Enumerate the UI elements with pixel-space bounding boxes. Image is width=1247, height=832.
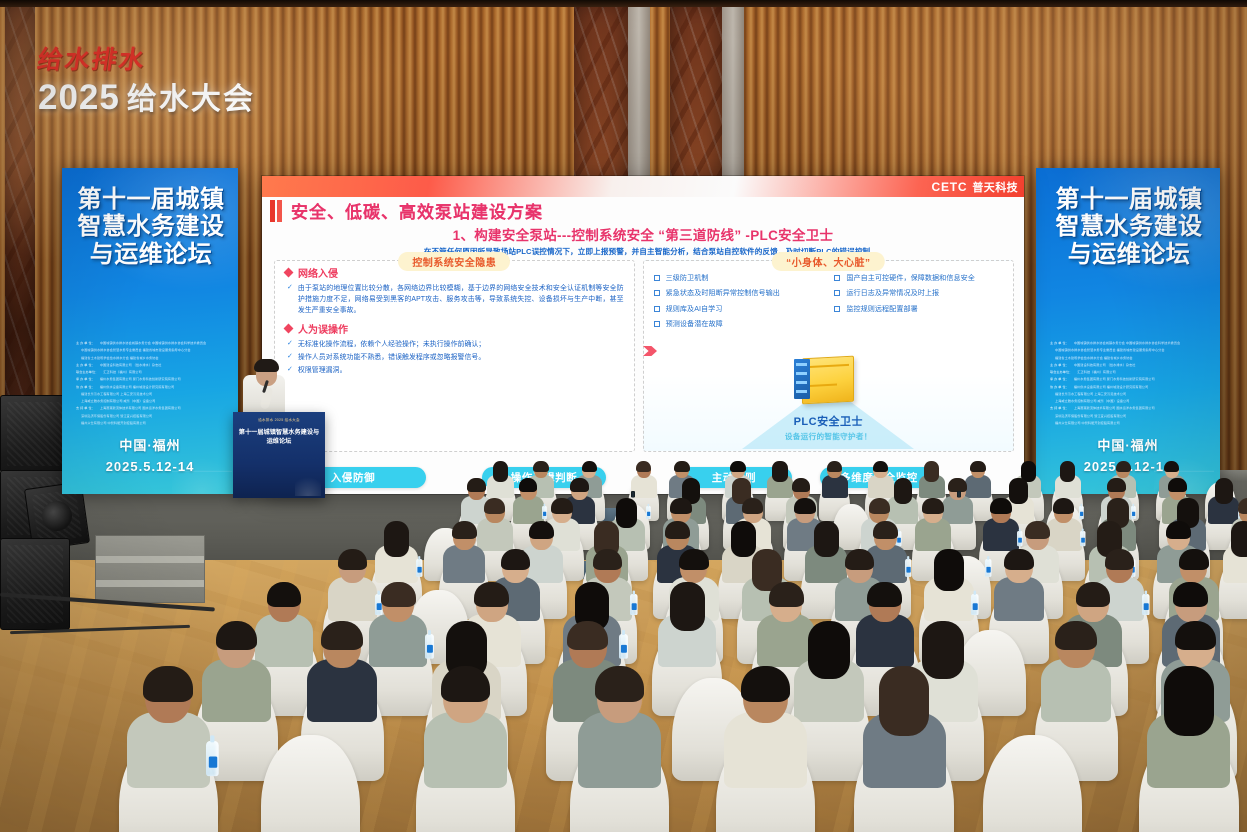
attendee-torso: [965, 475, 991, 499]
organizer-value: 上海威立雅水务控制有限公司 威乐（中国）设备公司: [1055, 398, 1129, 405]
organizer-value: 深圳泓济环保股份有限公司 浙江宜兴控股有限公司: [81, 413, 152, 420]
organizer-value: 中国城镇供水排水协会智慧水务专业委员会 福建省城市建设服务指导中心分会: [1055, 347, 1165, 354]
organizer-row: 福建长乐污水工程有限公司 上海三安污泥技术公司: [1050, 391, 1210, 398]
attendee-hair: [970, 461, 986, 472]
attendee-hair: [381, 582, 416, 607]
organizer-row: 中国城镇供水排水协会智慧水务专业委员会 福建省城市建设服务指导中心分会: [76, 347, 228, 354]
attendee-hair: [873, 461, 889, 472]
attendee-hair: [484, 498, 505, 513]
organizer-row: 联合主办单位：汇正科技（福州）有限公司: [1050, 369, 1210, 376]
water-bottle: [1079, 506, 1084, 519]
podium-logo: 给水排水 2025 给水大会: [233, 418, 325, 423]
attendee-hair: [922, 621, 963, 679]
organizer-row: 协 办 单 位：福州供水设备有限公司 福州城建设计研究院有限公司: [76, 384, 228, 391]
feature-item: 规则库及AI自学习: [654, 304, 825, 315]
organizer-label: 联合主办单位：: [1050, 369, 1072, 376]
attendee-hair: [593, 549, 623, 570]
organizer-row: 深圳泓济环保股份有限公司 浙江宜兴控股有限公司: [76, 413, 228, 420]
organizer-label: 协 办 单 位：: [1050, 384, 1069, 391]
organizer-value: 上海赛莱默流体技术有限公司 国水远洋水务集团有限公司: [100, 405, 181, 412]
attendee-hair: [1053, 498, 1074, 513]
attendee-hair: [529, 521, 554, 539]
attendee-hair: [1055, 621, 1096, 651]
attendee-hair: [769, 582, 804, 607]
organizer-value: 福州水务集团有限公司 厦门水务科技创新研究院有限公司: [100, 376, 181, 383]
water-bottle: [646, 506, 651, 519]
attendee-hair: [1116, 461, 1132, 472]
organizer-row: 福建省土木建筑学会给水排水分会 福建省城乡水务协会: [1050, 355, 1210, 362]
organizer-row: 主 办 单 位：中国城镇供水排水协会城镇水务分会 中国城镇供水排水协会科学技术委…: [76, 340, 228, 347]
attendee-hair: [679, 549, 709, 570]
feature-item-text: 监控规则远程配置部署: [846, 304, 917, 315]
square-bullet-icon: [834, 306, 840, 312]
attendee-hair: [674, 461, 690, 472]
organizer-value: 福州众仕有限公司 中智科能开封控股有限公司: [81, 420, 146, 427]
water-bottle: [1017, 531, 1022, 546]
attendee-hair: [1168, 478, 1187, 491]
attendee-torso: [994, 577, 1044, 622]
attendee-torso: [915, 518, 951, 550]
attendee-hair: [1107, 478, 1126, 491]
attendee-hair: [267, 582, 302, 607]
attendee-hair: [670, 582, 705, 631]
organizer-value: 福州众仕有限公司 中智科能开封控股有限公司: [1055, 420, 1120, 427]
presenter-hair: [254, 359, 279, 372]
attendee-hair: [792, 478, 811, 491]
attendee-hair: [1105, 549, 1135, 570]
organizer-value: 中国建设科技有限公司 （给水排水）杂志社: [100, 362, 162, 369]
attendee-torso: [983, 518, 1019, 550]
attendee-hair: [665, 521, 690, 539]
organizer-row: 上海威立雅水务控制有限公司 威乐（中国）设备公司: [76, 398, 228, 405]
attendee-torso: [757, 614, 815, 667]
banner-left-title: 第十一届城镇智慧水务建设与运维论坛: [70, 186, 232, 268]
organizer-row: 承 办 单 位：福州水务集团有限公司 厦门水务科技创新研究院有限公司: [1050, 376, 1210, 383]
diamond-bullet-icon: [284, 323, 294, 333]
attendee-hair: [730, 461, 746, 472]
attendee-hair: [1215, 478, 1234, 504]
attendee-hair: [384, 521, 409, 556]
organizer-label: 支 持 单 位：: [1050, 405, 1069, 412]
attendee-hair: [551, 498, 572, 513]
organizer-value: 福建长乐污水工程有限公司 上海三安污泥技术公司: [81, 391, 152, 398]
attendee-torso: [307, 659, 376, 722]
attendee-torso: [578, 712, 661, 787]
attendee-hair: [670, 498, 691, 513]
water-bottle: [416, 559, 422, 577]
attendee-hair: [441, 666, 491, 701]
attendee-hair: [922, 498, 943, 513]
organizer-value: 上海赛莱默流体技术有限公司 国水远洋水务集团有限公司: [1074, 405, 1155, 412]
organizer-row: 福建省土木建筑学会给水排水分会 福建省城乡水务协会: [76, 355, 228, 362]
attendee-hair: [1164, 666, 1214, 736]
feature-column-left: 三级防卫机制紧急状态及时阻断异常控制信号输出规则库及AI自学习预测设备潜在故障: [654, 273, 825, 334]
attendee-hair: [934, 549, 964, 591]
feature-item: 运行日志及异常情况及时上报: [834, 288, 1005, 299]
attendee-hair: [493, 461, 509, 483]
attendee-hair: [742, 498, 763, 513]
podium-title: 第十一届城镇智慧水务建设与运维论坛: [237, 428, 321, 447]
watermark-event: 给水大会: [127, 74, 255, 118]
organizer-row: 上海威立雅水务控制有限公司 威乐（中国）设备公司: [1050, 398, 1210, 405]
organizer-label: 承 办 单 位：: [1050, 376, 1069, 383]
attendee-hair: [879, 666, 929, 736]
water-bottle: [985, 559, 991, 577]
water-bottle: [971, 594, 979, 615]
organizer-row: 主 办 单 位：中国建设科技有限公司 （给水排水）杂志社: [76, 362, 228, 369]
feature-item-text: 规则库及AI自学习: [666, 304, 723, 315]
attendee-hair: [467, 478, 486, 491]
square-bullet-icon: [654, 275, 660, 281]
attendee-hair: [533, 461, 549, 472]
attendee-hair: [845, 549, 875, 570]
organizer-row: 支 持 单 位：上海赛莱默流体技术有限公司 国水远洋水务集团有限公司: [1050, 405, 1210, 412]
attendee-hair: [808, 621, 849, 679]
attendee-hair: [894, 478, 913, 504]
organizer-row: 中国城镇供水排水协会智慧水务专业委员会 福建省城市建设服务指导中心分会: [1050, 347, 1210, 354]
plc-device-tagline: 设备运行的智能守护者！: [644, 431, 1013, 442]
attendee-hair: [1238, 498, 1247, 513]
feature-item: 三级防卫机制: [654, 273, 825, 284]
attendee-hair: [794, 498, 815, 513]
check-icon: ✓: [287, 365, 293, 376]
attendee-hair: [814, 521, 839, 556]
attendee-hair: [474, 582, 509, 607]
pane-left-badge: 控制系统安全隐患: [398, 252, 510, 271]
slide-subtitle: 1、构建安全泵站---控制系统安全 “第三道防线” -PLC安全卫士: [262, 224, 1024, 244]
water-bottle: [1142, 594, 1150, 615]
attendee-hair: [731, 521, 756, 556]
attendee-hair: [1166, 521, 1191, 539]
risk-section-title: 网络入侵: [298, 265, 338, 280]
organizer-row: 主 办 单 位：中国城镇供水排水协会城镇水务分会 中国城镇供水排水协会科学技术委…: [1050, 340, 1210, 347]
risk-bullet: ✓由于泵站的地理位置比较分散，各网络边界比较模糊，基于边界的网络安全技术和安全认…: [287, 283, 624, 317]
feature-item: 紧急状态及时阻断异常控制信号输出: [654, 288, 825, 299]
attendee-hair: [616, 498, 637, 528]
ceiling-edge: [0, 0, 1247, 7]
slide-header-bar: CETC 普天科技: [262, 176, 1024, 197]
feature-item-text: 预测设备潜在故障: [666, 319, 723, 330]
organizer-row: 联合主办单位：汇正科技（福州）有限公司: [76, 369, 228, 376]
banner-right-organizers: 主 办 单 位：中国城镇供水排水协会城镇水务分会 中国城镇供水排水协会科学技术委…: [1050, 340, 1210, 427]
organizer-value: 中国城镇供水排水协会智慧水务专业委员会 福建省城市建设服务指导中心分会: [81, 347, 191, 354]
organizer-row: 主 办 单 位：中国建设科技有限公司 （给水排水）杂志社: [1050, 362, 1210, 369]
watermark-year: 2025: [38, 78, 120, 118]
organizer-row: 支 持 单 位：上海赛莱默流体技术有限公司 国水远洋水务集团有限公司: [76, 405, 228, 412]
risk-bullet: ✓操作人员对系统功能不熟悉，错误触发程序或忽略报警信号。: [287, 352, 624, 363]
attendee-torso: [477, 518, 513, 550]
attendee-torso: [202, 659, 271, 722]
risk-bullet-text: 由于泵站的地理位置比较分散，各网络边界比较模糊，基于边界的网络安全技术和安全认证…: [298, 283, 624, 317]
risk-bullet: ✓权限管理漏洞。: [287, 365, 624, 376]
attendee-hair: [216, 621, 257, 651]
attendee-torso: [369, 614, 427, 667]
slide-title-row: 安全、低碳、高效泵站建设方案: [270, 198, 543, 223]
square-bullet-icon: [654, 321, 660, 327]
attendee-hair: [1179, 549, 1209, 570]
organizer-label: 联合主办单位：: [76, 369, 98, 376]
water-bottle: [542, 506, 547, 519]
feature-item: 预测设备潜在故障: [654, 319, 825, 330]
attendee-torso: [127, 712, 210, 787]
organizer-label: 承 办 单 位：: [76, 376, 95, 383]
risk-bullet-text: 权限管理漏洞。: [298, 365, 347, 376]
smartphone-icon: [957, 491, 961, 498]
risk-section-heading: 人为误操作: [285, 321, 634, 336]
cetc-logo-cn: 普天科技: [972, 179, 1018, 195]
slide-title: 安全、低碳、高效泵站建设方案: [291, 198, 543, 223]
attendee-torso: [424, 712, 507, 787]
slide-panes: 控制系统安全隐患 网络入侵✓由于泵站的地理位置比较分散，各网络边界比较模糊，基于…: [274, 260, 1014, 452]
organizer-value: 福州供水设备有限公司 福州城建设计研究院有限公司: [1074, 384, 1148, 391]
feature-item: 监控规则远程配置部署: [834, 304, 1005, 315]
attendee-hair: [948, 478, 967, 491]
organizer-value: 深圳泓济环保股份有限公司 浙江宜兴控股有限公司: [1055, 413, 1126, 420]
risk-bullet: ✓无标准化操作流程，依赖个人经验操作；未执行操作前确认；: [287, 339, 624, 350]
watermark: 给水排水 2025 给水大会: [38, 40, 284, 118]
organizer-label: 主 办 单 位：: [76, 340, 95, 347]
attendee-hair: [924, 461, 940, 483]
pane-security-risks: 控制系统安全隐患 网络入侵✓由于泵站的地理位置比较分散，各网络边界比较模糊，基于…: [274, 260, 635, 452]
attendee-torso: [942, 496, 973, 524]
organizer-row: 福建长乐污水工程有限公司 上海三安污泥技术公司: [76, 391, 228, 398]
attendee-hair: [990, 498, 1011, 513]
feature-item: 国产自主可控硬件，保障数据和信息安全: [834, 273, 1005, 284]
water-bottle: [1080, 531, 1085, 546]
organizer-label: 协 办 单 位：: [76, 384, 95, 391]
cetc-logo-mark: CETC: [932, 180, 968, 194]
attendee-hair: [1173, 582, 1208, 607]
attendee-hair: [321, 621, 362, 651]
feature-item-text: 紧急状态及时阻断异常控制信号输出: [666, 288, 780, 299]
feature-item-text: 国产自主可控硬件，保障数据和信息安全: [846, 273, 975, 284]
attendee-torso: [513, 496, 544, 524]
attendee-hair: [582, 461, 598, 472]
projection-screen: CETC 普天科技 安全、低碳、高效泵站建设方案 1、构建安全泵站---控制系统…: [262, 176, 1024, 494]
attendee-hair: [519, 478, 538, 491]
water-bottle: [1131, 506, 1136, 519]
attendee-hair: [741, 666, 791, 701]
organizer-value: 汇正科技（福州）有限公司: [1077, 369, 1115, 376]
organizer-value: 中国建设科技有限公司 （给水排水）杂志社: [1074, 362, 1136, 369]
organizer-row: 承 办 单 位：福州水务集团有限公司 厦门水务科技创新研究院有限公司: [76, 376, 228, 383]
square-bullet-icon: [654, 306, 660, 312]
organizer-value: 福州供水设备有限公司 福州城建设计研究院有限公司: [100, 384, 174, 391]
attendee-hair: [452, 521, 477, 539]
square-bullet-icon: [834, 290, 840, 296]
attendee-hair: [1025, 521, 1050, 539]
banner-right: 第十一届城镇智慧水务建设与运维论坛 主 办 单 位：中国城镇供水排水协会城镇水务…: [1036, 168, 1220, 494]
cetc-logo: CETC 普天科技: [932, 179, 1018, 194]
organizer-row: 协 办 单 位：福州供水设备有限公司 福州城建设计研究院有限公司: [1050, 384, 1210, 391]
water-bottle: [630, 594, 638, 615]
organizer-label: 主 办 单 位：: [1050, 340, 1069, 347]
attendee-hair: [595, 666, 645, 701]
attendee-hair: [338, 549, 368, 570]
water-bottle: [425, 634, 434, 659]
organizer-label: 支 持 单 位：: [76, 405, 95, 412]
feature-columns: 三级防卫机制紧急状态及时阻断异常控制信号输出规则库及AI自学习预测设备潜在故障 …: [644, 261, 1013, 334]
organizer-value: 中国城镇供水排水协会城镇水务分会 中国城镇供水排水协会科学技术委员会: [1074, 340, 1180, 347]
organizer-value: 福建省土木建筑学会给水排水分会 福建省城乡水务协会: [1055, 355, 1133, 362]
organizer-row: 深圳泓济环保股份有限公司 浙江宜兴控股有限公司: [1050, 413, 1210, 420]
watermark-cn-title: 给水排水: [35, 40, 287, 76]
attendee-hair: [873, 521, 898, 539]
left-pane-sections: 网络入侵✓由于泵站的地理位置比较分散，各网络边界比较模糊，基于边界的网络安全技术…: [275, 265, 634, 376]
attendee-torso: [868, 475, 894, 499]
attendee-torso: [328, 577, 378, 622]
organizer-value: 福建长乐污水工程有限公司 上海三安污泥技术公司: [1055, 391, 1126, 398]
attendee-hair: [570, 478, 589, 491]
organizer-value: 中国城镇供水排水协会城镇水务分会 中国城镇供水排水协会科学技术委员会: [100, 340, 206, 347]
water-bottle: [619, 634, 628, 659]
plc-device-name: PLC安全卫士: [644, 413, 1013, 429]
organizer-row: 福州众仕有限公司 中智科能开封控股有限公司: [1050, 420, 1210, 427]
attendee-hair: [1004, 549, 1034, 570]
organizer-value: 上海威立雅水务控制有限公司 威乐（中国）设备公司: [81, 398, 155, 405]
attendee-torso: [822, 475, 848, 499]
feature-item-text: 运行日志及异常情况及时上报: [846, 288, 939, 299]
attendee-hair: [1231, 521, 1247, 556]
audience: [0, 470, 1247, 832]
attendee-torso: [255, 614, 313, 667]
slide-description: 在不管任何原因所导致场站PLC误控情况下，立即上报预警，并自主智能分析，结合泵站…: [284, 246, 1010, 257]
attendee-hair: [1009, 478, 1028, 504]
banner-left-organizers: 主 办 单 位：中国城镇供水排水协会城镇水务分会 中国城镇供水排水协会科学技术委…: [76, 340, 228, 427]
pane-right-badge: “小身体、大心脏”: [772, 252, 885, 271]
check-icon: ✓: [287, 352, 293, 363]
plc-connector-icon: [794, 359, 810, 399]
attendee-hair: [867, 582, 902, 607]
organizer-value: 福州水务集团有限公司 厦门水务科技创新研究院有限公司: [1074, 376, 1155, 383]
banner-left: 第十一届城镇智慧水务建设与运维论坛 主 办 单 位：中国城镇供水排水协会城镇水务…: [62, 168, 238, 494]
organizer-value: 福建省土木建筑学会给水排水分会 福建省城乡水务协会: [81, 355, 159, 362]
smartphone-icon: [631, 491, 635, 498]
diamond-bullet-icon: [284, 268, 294, 278]
water-bottle: [206, 741, 219, 776]
check-icon: ✓: [287, 339, 293, 350]
attendee-hair: [772, 461, 788, 483]
organizer-value: 汇正科技（福州）有限公司: [103, 369, 141, 376]
attendee-hair: [143, 666, 193, 701]
attendee-hair: [501, 549, 531, 570]
attendee-torso: [856, 614, 914, 667]
plc-device-graphic: PLC安全卫士 设备运行的智能守护者！: [644, 357, 1013, 449]
square-bullet-icon: [654, 290, 660, 296]
conference-photo: 给水排水 2025 给水大会 第十一届城镇智慧水务建设与运维论坛 主 办 单 位…: [0, 0, 1247, 832]
check-icon: ✓: [287, 283, 293, 317]
risk-section-title: 人为误操作: [298, 321, 348, 336]
attendee-torso: [443, 545, 485, 583]
risk-bullet-text: 无标准化操作流程，依赖个人经验操作；未执行操作前确认；: [298, 339, 485, 350]
title-accent-bars-icon: [270, 200, 282, 222]
banner-right-title: 第十一届城镇智慧水务建设与运维论坛: [1044, 186, 1214, 268]
feature-item-text: 三级防卫机制: [666, 273, 709, 284]
water-bottle: [905, 559, 911, 577]
square-bullet-icon: [834, 275, 840, 281]
risk-bullet-text: 操作人员对系统功能不熟悉，错误触发程序或忽略报警信号。: [298, 352, 485, 363]
pane-plc-features: “小身体、大心脏” 三级防卫机制紧急状态及时阻断异常控制信号输出规则库及AI自学…: [643, 260, 1014, 452]
feature-column-right: 国产自主可控硬件，保障数据和信息安全运行日志及异常情况及时上报监控规则远程配置部…: [834, 273, 1005, 334]
attendee-hair: [1060, 461, 1076, 483]
organizer-label: 主 办 单 位：: [76, 362, 95, 369]
attendee-torso: [1041, 659, 1110, 722]
attendee-hair: [869, 498, 890, 513]
plc-module-icon: [802, 356, 854, 405]
organizer-label: 主 办 单 位：: [1050, 362, 1069, 369]
organizer-row: 福州众仕有限公司 中智科能开封控股有限公司: [76, 420, 228, 427]
attendee-torso: [724, 712, 807, 787]
